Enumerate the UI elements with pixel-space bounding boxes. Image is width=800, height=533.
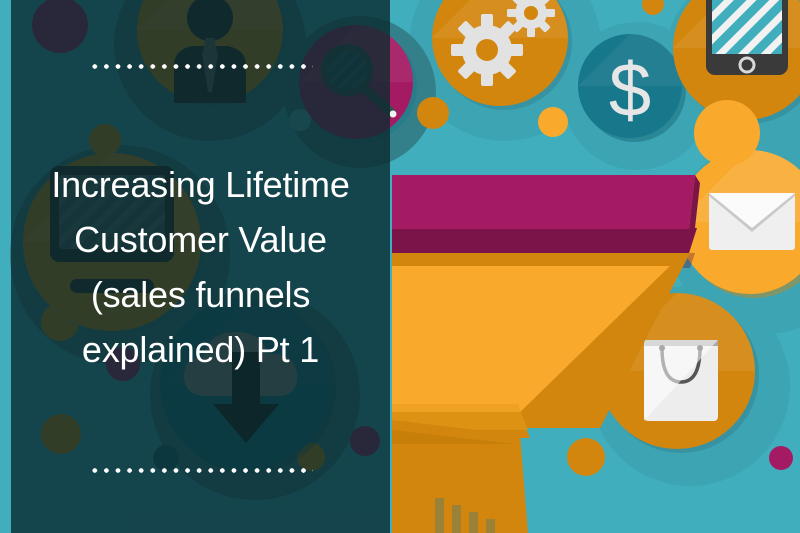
dotted-rule-bottom (89, 467, 313, 474)
funnel-rim-shadow (392, 228, 697, 253)
slide-canvas: $ (0, 0, 800, 533)
decor-dot (769, 446, 793, 470)
dollar-glyph: $ (609, 48, 651, 133)
funnel-rim (392, 175, 695, 229)
decor-dot (417, 97, 449, 129)
page-title: Increasing Lifetime Customer Value (sale… (11, 157, 390, 377)
decor-dot (694, 100, 760, 166)
cog-large (451, 14, 523, 86)
decor-dot (567, 438, 605, 476)
decor-dot (538, 107, 568, 137)
title-block: Increasing Lifetime Customer Value (sale… (11, 0, 390, 533)
dotted-rule-top (89, 63, 313, 70)
